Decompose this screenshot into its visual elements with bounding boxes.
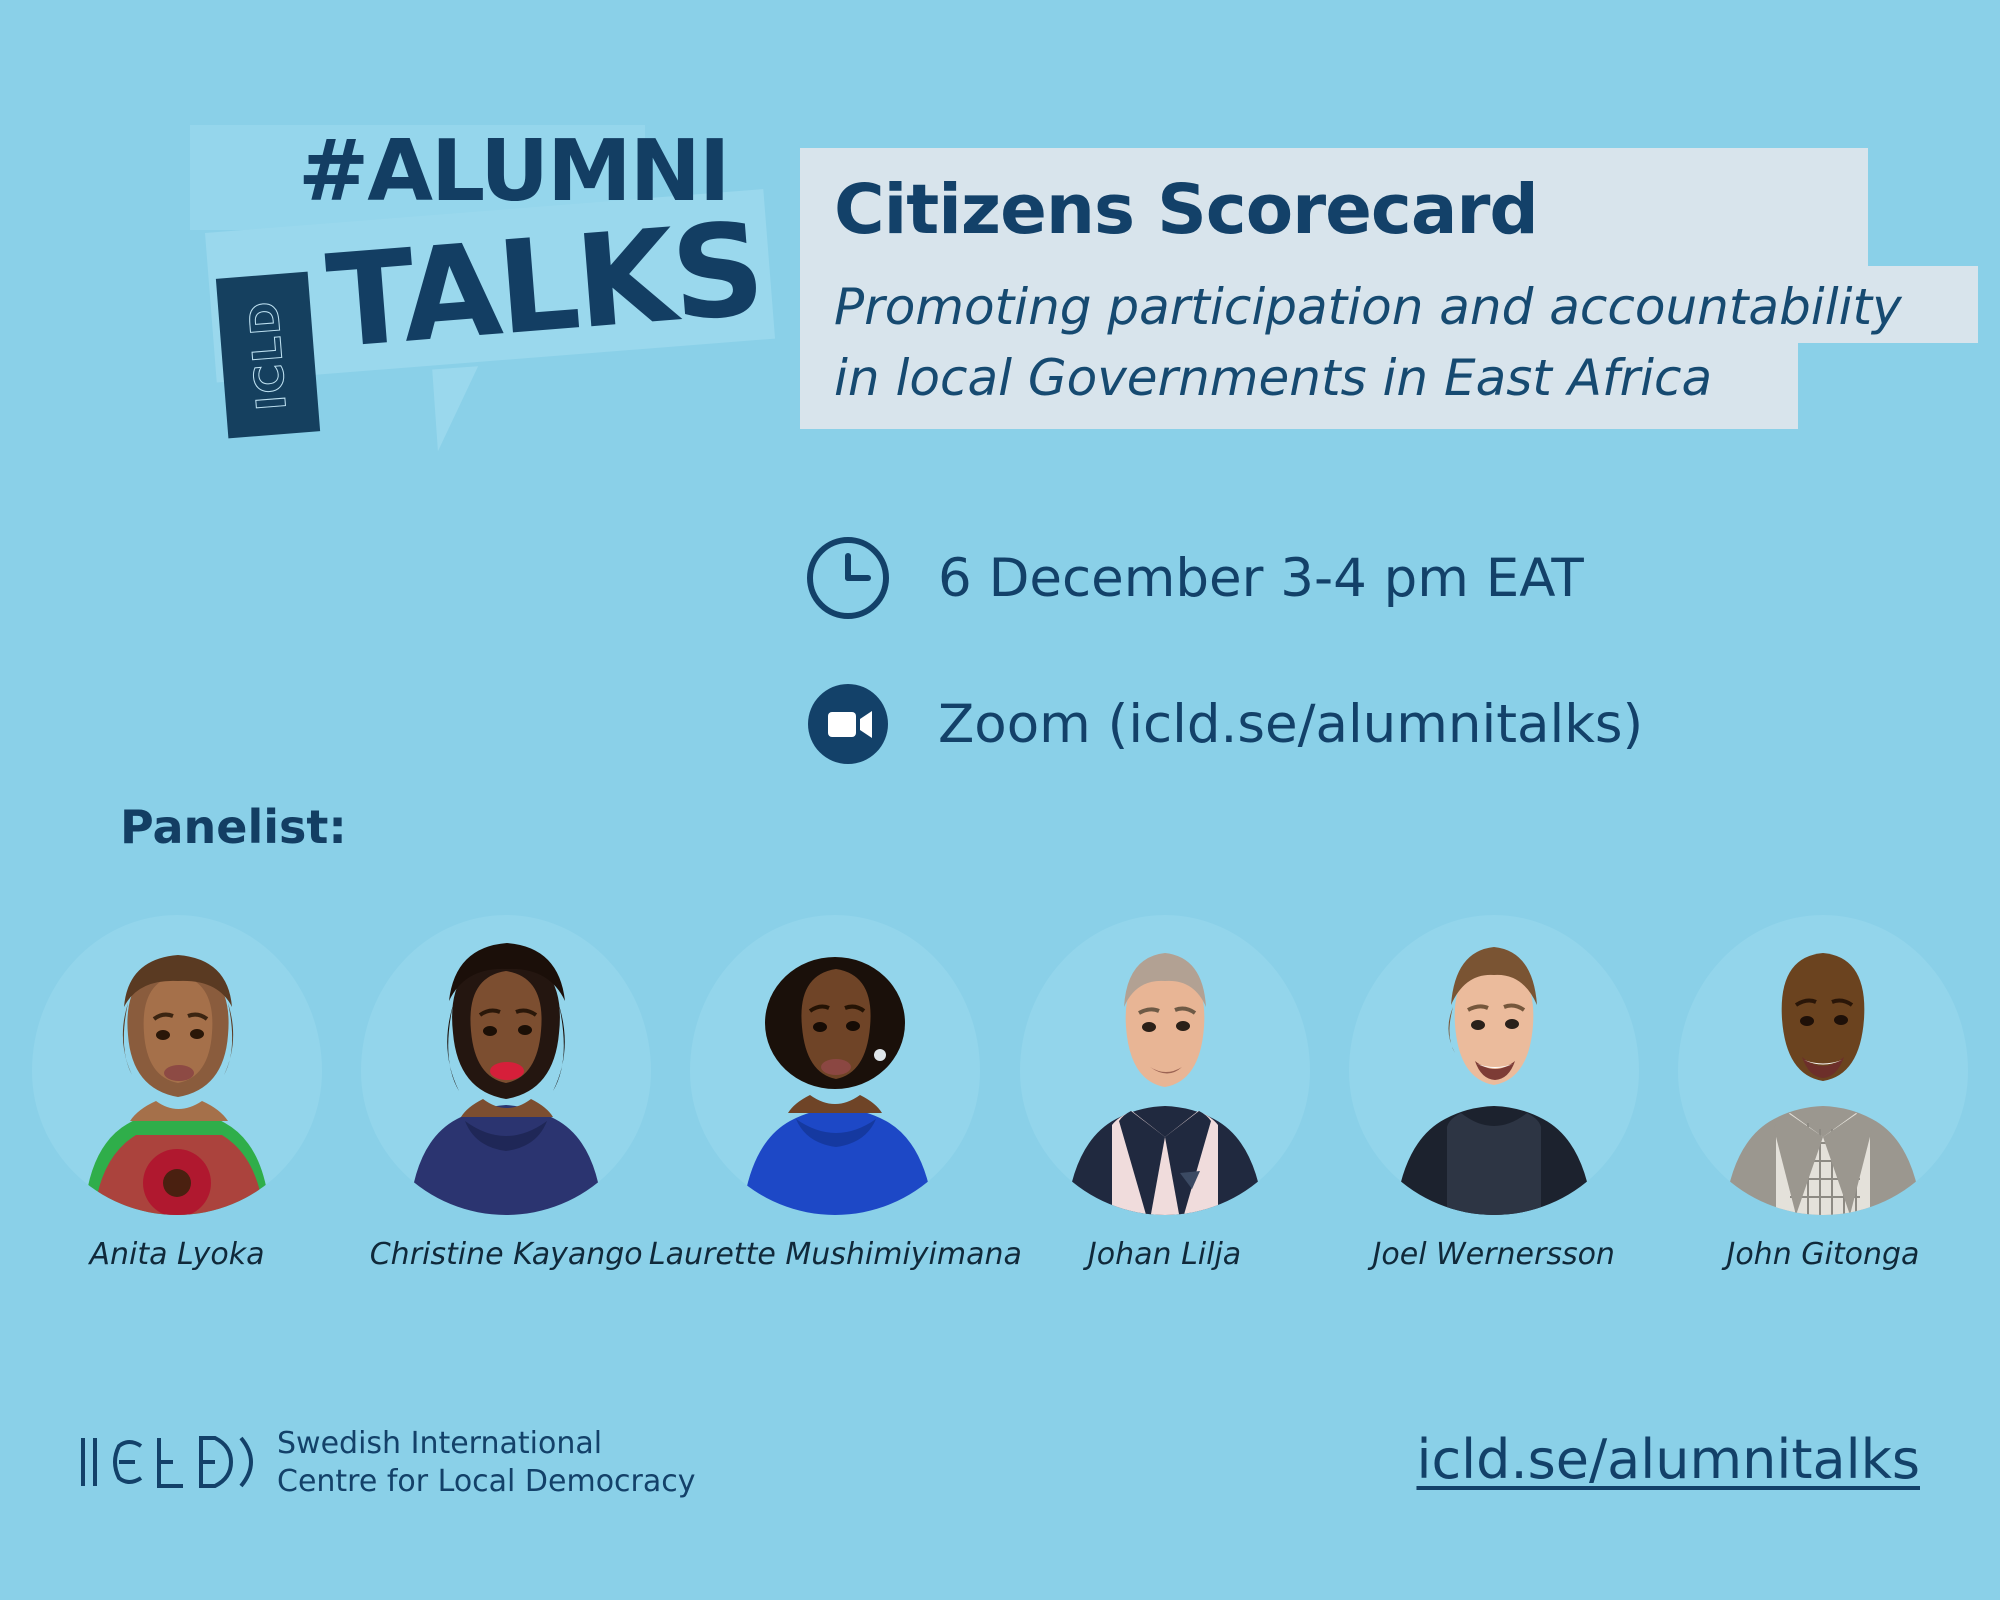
panelist-name: Laurette Mushimiyimana — [649, 1237, 1022, 1272]
subtitle-line-1: Promoting participation and accountabili… — [800, 266, 1978, 343]
icld-footer-logo: Swedish International Centre for Local D… — [75, 1425, 696, 1502]
panelist-photo-backdrop — [361, 915, 651, 1215]
icld-footer-line-1: Swedish International — [277, 1425, 696, 1463]
avatar — [1678, 915, 1968, 1215]
logo-talks-text: TALKS — [323, 206, 766, 368]
panelist-photo-backdrop — [32, 915, 322, 1215]
panelist-photo-backdrop — [1349, 915, 1639, 1215]
panelist-item: Anita Lyoka — [22, 915, 332, 1335]
panelist-name: Christine Kayango — [370, 1237, 643, 1272]
clock-icon — [800, 530, 896, 626]
panelist-name: John Gitonga — [1726, 1237, 1919, 1272]
panelist-item: Johan Lilja — [1010, 915, 1320, 1335]
icld-badge-icon: ICLD — [216, 272, 320, 439]
panelist-name: Joel Wernersson — [1373, 1237, 1615, 1272]
panelist-photo-backdrop — [1678, 915, 1968, 1215]
poster-canvas: #ALUMNI TALKS ICLD Citizens Scorecard Pr… — [0, 0, 2000, 1600]
event-platform-text[interactable]: Zoom (icld.se/alumnitalks) — [938, 694, 1643, 755]
event-time-row: 6 December 3-4 pm EAT — [800, 530, 1643, 626]
panelist-item: Christine Kayango — [351, 915, 661, 1335]
avatar — [1020, 915, 1310, 1215]
panelist-name: Anita Lyoka — [89, 1237, 264, 1272]
panelist-item: John Gitonga — [1668, 915, 1978, 1335]
alumnitalks-url-link[interactable]: icld.se/alumnitalks — [1416, 1428, 1920, 1491]
event-platform-row: Zoom (icld.se/alumnitalks) — [800, 676, 1643, 772]
panelist-name: Johan Lilja — [1088, 1237, 1241, 1272]
event-time-text: 6 December 3-4 pm EAT — [938, 548, 1584, 609]
page-title: Citizens Scorecard — [800, 148, 1868, 266]
panelist-photo-backdrop — [1020, 915, 1310, 1215]
headline-block: Citizens Scorecard Promoting participati… — [800, 148, 1978, 429]
subtitle-line-2: in local Governments in East Africa — [800, 343, 1798, 430]
avatar — [32, 915, 322, 1215]
icld-badge-label: ICLD — [241, 298, 296, 412]
panelist-label: Panelist: — [120, 800, 347, 854]
avatar — [361, 915, 651, 1215]
avatar — [1349, 915, 1639, 1215]
speech-bubble-tail-shape — [432, 365, 506, 452]
panelist-item: Joel Wernersson — [1339, 915, 1649, 1335]
panelist-strip: Anita Lyoka — [0, 915, 2000, 1335]
event-info-block: 6 December 3-4 pm EAT Zoom (icld.se/alum… — [800, 530, 1643, 822]
zoom-camera-icon[interactable] — [800, 676, 896, 772]
alumni-talks-logo: #ALUMNI TALKS ICLD — [110, 95, 750, 425]
icld-footer-line-2: Centre for Local Democracy — [277, 1463, 696, 1501]
panelist-photo-backdrop — [690, 915, 980, 1215]
icld-footer-text: Swedish International Centre for Local D… — [277, 1425, 696, 1502]
avatar — [690, 915, 980, 1215]
panelist-item: Laurette Mushimiyimana — [680, 915, 990, 1335]
icld-wordmark-icon — [75, 1428, 255, 1499]
